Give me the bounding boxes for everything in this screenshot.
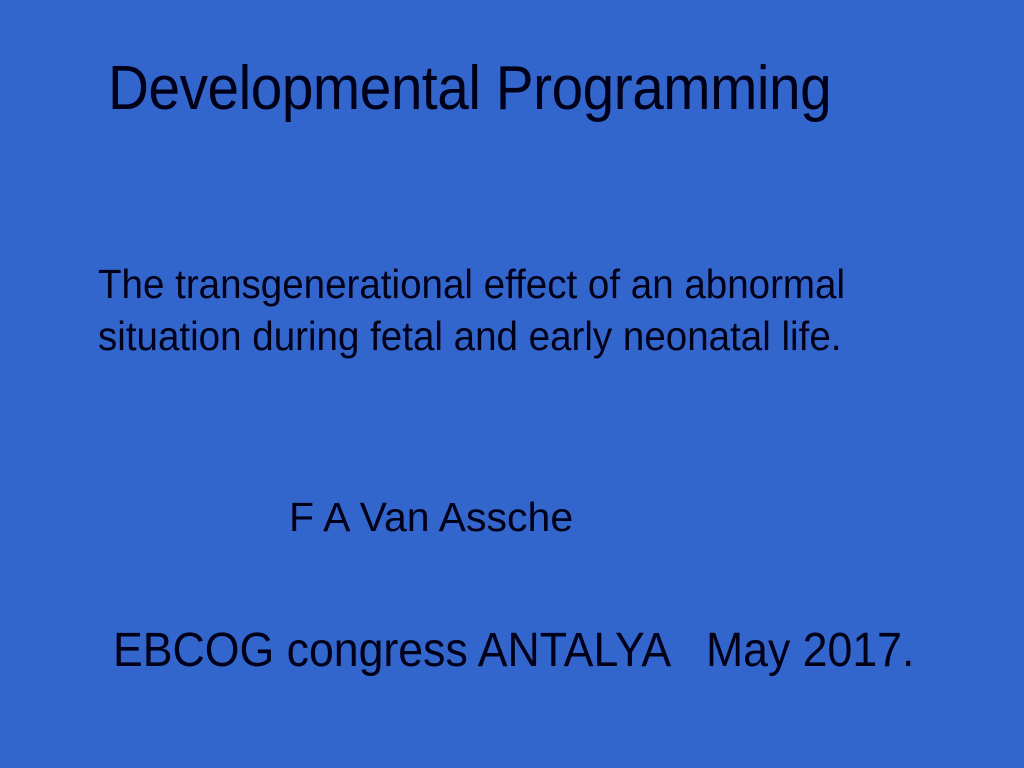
slide-author-name: F A Van Assche [289, 496, 573, 539]
slide-subtitle-text: The transgenerational effect of an abnor… [98, 258, 878, 362]
slide-conference-container: EBCOG congress ANTALYA May 2017. [113, 626, 993, 676]
slide-author-container: F A Van Assche [289, 496, 573, 539]
slide-body-container: The transgenerational effect of an abnor… [98, 258, 928, 362]
presentation-slide: Developmental Programming The transgener… [0, 0, 1024, 768]
slide-title: Developmental Programming [108, 58, 895, 120]
slide-conference-info: EBCOG congress ANTALYA May 2017. [113, 626, 931, 676]
slide-title-container: Developmental Programming [108, 58, 968, 120]
